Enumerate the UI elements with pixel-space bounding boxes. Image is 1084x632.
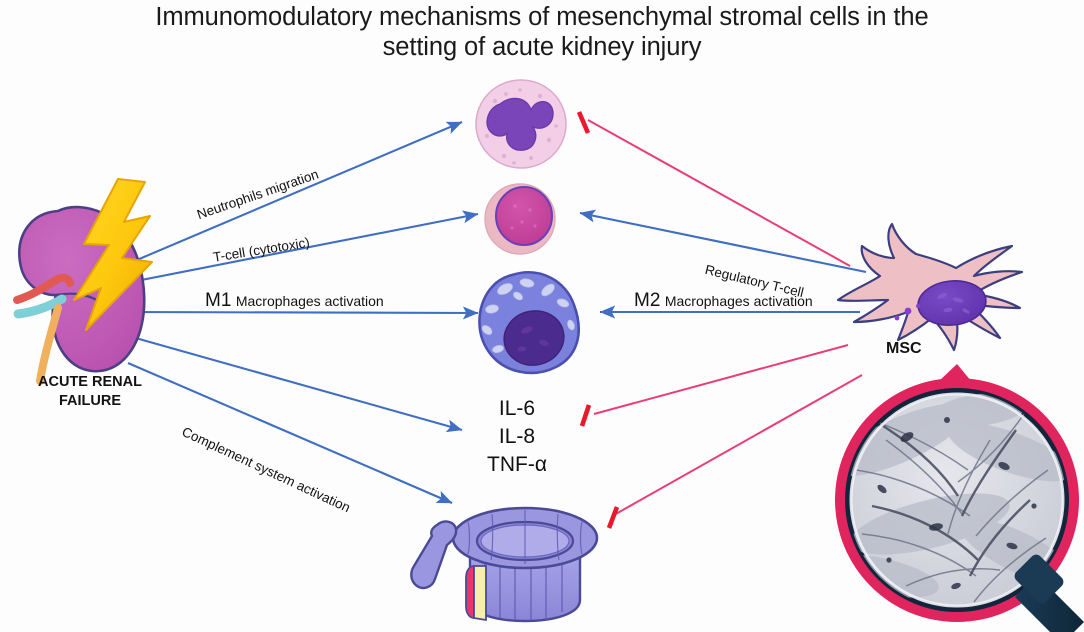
neutrophil-graphic <box>476 80 566 168</box>
kidney-graphic <box>17 179 152 381</box>
complement-pore-graphic <box>411 508 597 621</box>
ureter <box>40 308 58 381</box>
arrow-tcell-cytotoxic <box>126 214 478 283</box>
diagram-artwork <box>0 0 1084 632</box>
activation-arrows <box>118 122 478 503</box>
inhibition-lines <box>588 120 862 515</box>
macrophage-graphic <box>479 272 578 373</box>
arrow-complement-system-activation <box>128 363 452 503</box>
msc-graphic <box>838 224 1022 350</box>
inhibition-bars <box>579 112 617 528</box>
inhibition-bar-complement <box>609 507 617 528</box>
msc-activation-arrows <box>580 213 866 312</box>
pore-inserted-strip-cream <box>474 566 486 620</box>
arrow-m1-macrophages-activation <box>128 312 478 313</box>
tcell-graphic <box>485 184 555 254</box>
tcell-nucleus <box>496 187 552 245</box>
inhibition-bar-neutrophil <box>579 112 588 133</box>
arrow-neutrophils-migration <box>118 122 462 268</box>
arrow-regulatory-tcell <box>580 213 866 272</box>
inhibition-bar-cytokines <box>582 405 589 426</box>
arrow-cytokines <box>132 337 462 430</box>
pore-inserted-strip-pink <box>466 566 474 618</box>
inhibition-line-complement <box>614 375 862 515</box>
inhibition-line-neutrophil <box>588 120 850 266</box>
figure-canvas: Immunomodulatory mechanisms of mesenchym… <box>0 0 1084 632</box>
micrograph-magnifier <box>818 364 1084 632</box>
pore-free-subunit <box>411 522 456 588</box>
